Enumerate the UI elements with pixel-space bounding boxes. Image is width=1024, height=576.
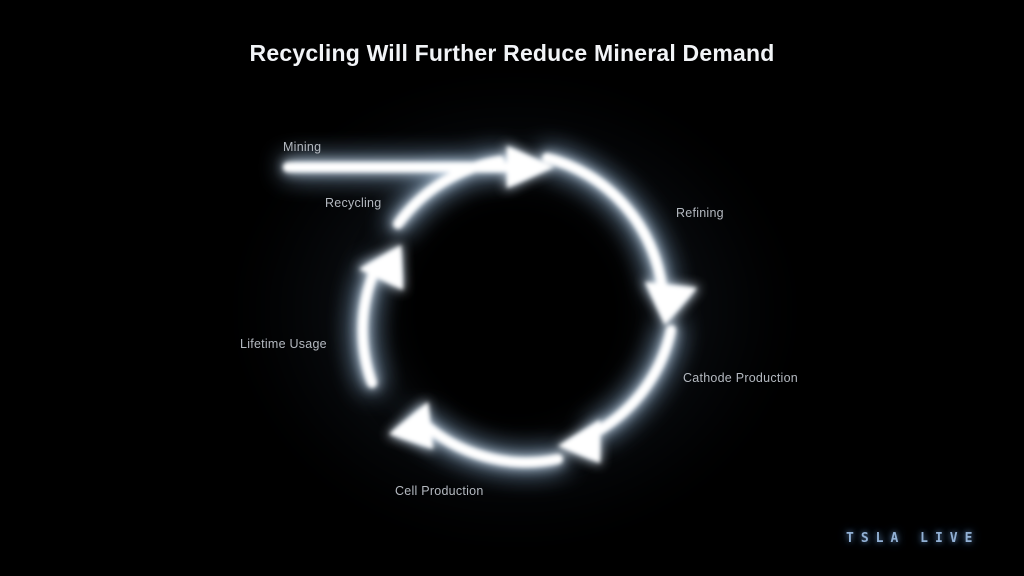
cycle-diagram — [0, 0, 1024, 576]
label-cell-production: Cell Production — [395, 484, 484, 498]
label-mining: Mining — [283, 140, 321, 154]
slide-canvas: Recycling Will Further Reduce Mineral De… — [0, 0, 1024, 576]
label-recycling: Recycling — [325, 196, 381, 210]
ring-core — [283, 146, 697, 463]
label-cathode-production: Cathode Production — [683, 371, 798, 385]
label-refining: Refining — [676, 206, 724, 220]
ring-mid-glow — [283, 144, 700, 465]
tsla-live-watermark: TSLA LIVE — [846, 531, 979, 546]
label-lifetime-usage: Lifetime Usage — [240, 337, 327, 351]
mining-inlet-bar — [283, 163, 515, 173]
